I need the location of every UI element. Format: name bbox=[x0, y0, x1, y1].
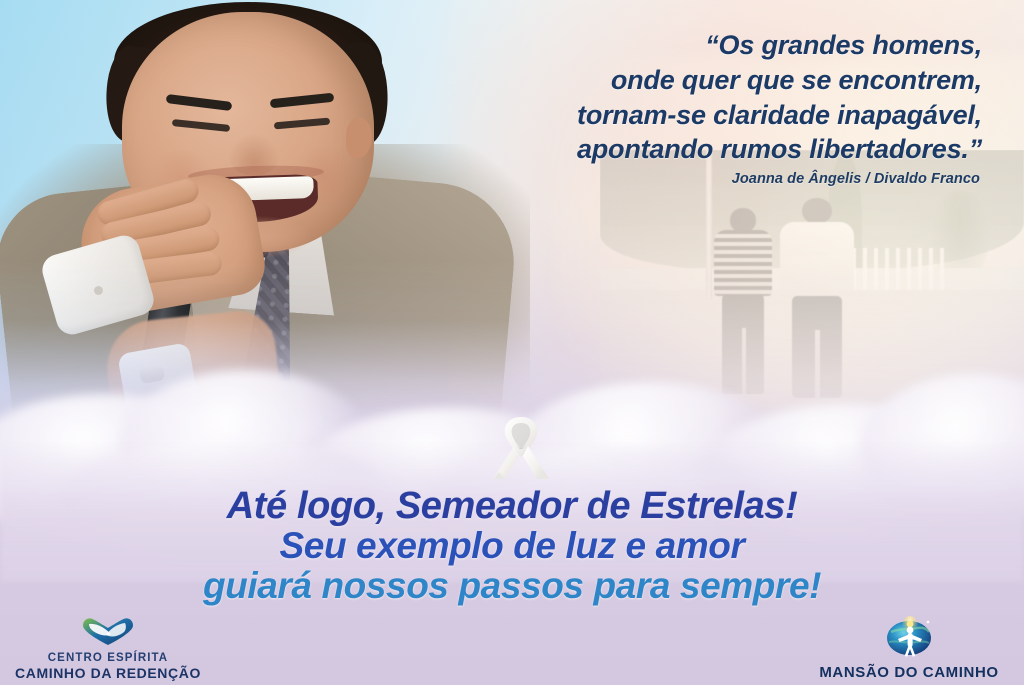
headline-line-2: Seu exemplo de luz e amor bbox=[0, 526, 1024, 566]
cuff-button bbox=[94, 286, 103, 295]
globe-figure-icon bbox=[804, 616, 1014, 663]
quote-line-4: apontando rumos libertadores.” bbox=[422, 132, 982, 167]
logo-left-line-1: CENTRO ESPÍRITA bbox=[8, 652, 208, 665]
quote-line-2: onde quer que se encontrem, bbox=[422, 63, 982, 98]
headline-line-1: Até logo, Semeador de Estrelas! bbox=[0, 486, 1024, 526]
white-awareness-ribbon-icon bbox=[487, 413, 555, 485]
quote-attribution: Joanna de Ângelis / Divaldo Franco bbox=[420, 171, 980, 187]
logo-mansao-do-caminho: MANSÃO DO CAMINHO bbox=[804, 616, 1014, 681]
heart-hands-icon bbox=[8, 616, 208, 651]
fence bbox=[852, 248, 948, 296]
walking-figure-white-shirt bbox=[780, 198, 858, 398]
logo-left-line-2: CAMINHO DA REDENÇÃO bbox=[8, 665, 208, 681]
walking-figure-striped bbox=[712, 208, 774, 394]
tribute-banner: “Os grandes homens, onde quer que se enc… bbox=[0, 0, 1024, 685]
background-photo-walking-figures bbox=[600, 150, 1024, 440]
logo-right-line-1: MANSÃO DO CAMINHO bbox=[804, 664, 1014, 681]
quote-line-3: tornam-se claridade inapagável, bbox=[422, 98, 982, 133]
quote-text: “Os grandes homens, onde quer que se enc… bbox=[422, 28, 982, 167]
headline-block: Até logo, Semeador de Estrelas! Seu exem… bbox=[0, 486, 1024, 606]
logo-centro-espirita: CENTRO ESPÍRITA CAMINHO DA REDENÇÃO bbox=[8, 616, 208, 681]
quote-line-1: “Os grandes homens, bbox=[422, 28, 982, 63]
headline-line-3: guiará nossos passos para sempre! bbox=[0, 566, 1024, 606]
